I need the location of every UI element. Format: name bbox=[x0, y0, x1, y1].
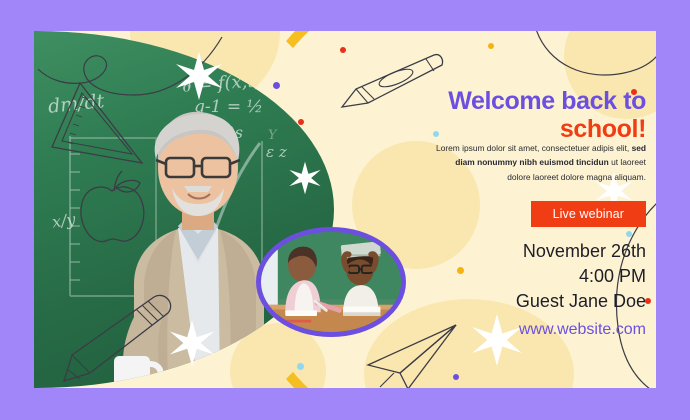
content-column: Welcome back to school! Lorem ipsum dolo… bbox=[384, 31, 656, 388]
event-guest: Guest Jane Doe bbox=[394, 289, 646, 314]
two-students-at-desk-photo bbox=[261, 232, 401, 335]
website-link[interactable]: www.website.com bbox=[394, 321, 646, 339]
teacher-photo-clip: dm/dt ∂ = f(x,t) q-1 = ½ x+y)s ε z x/y bbox=[34, 31, 334, 388]
headline-line-1: Welcome back to bbox=[394, 87, 646, 115]
body-copy-part1: Lorem ipsum dolor sit amet, consectetuer… bbox=[436, 143, 632, 153]
body-copy: Lorem ipsum dolor sit amet, consectetuer… bbox=[432, 141, 646, 184]
teacher-photo-area: dm/dt ∂ = f(x,t) q-1 = ½ x+y)s ε z x/y bbox=[34, 31, 334, 388]
headline-line-2: school! bbox=[394, 115, 646, 143]
red-dot-upper bbox=[340, 47, 346, 53]
event-details: November 26th 4:00 PM Guest Jane Doe bbox=[394, 239, 646, 313]
event-date: November 26th bbox=[394, 239, 646, 264]
event-time: 4:00 PM bbox=[394, 264, 646, 289]
teacher-at-chalkboard-photo: dm/dt ∂ = f(x,t) q-1 = ½ x+y)s ε z x/y bbox=[34, 31, 334, 388]
live-webinar-button[interactable]: Live webinar bbox=[531, 201, 646, 227]
page-title: Welcome back to school! bbox=[394, 87, 646, 143]
banner-card: dm/dt ∂ = f(x,t) q-1 = ½ x+y)s ε z x/y bbox=[34, 31, 656, 388]
welcome-back-banner: dm/dt ∂ = f(x,t) q-1 = ½ x+y)s ε z x/y bbox=[0, 0, 690, 420]
